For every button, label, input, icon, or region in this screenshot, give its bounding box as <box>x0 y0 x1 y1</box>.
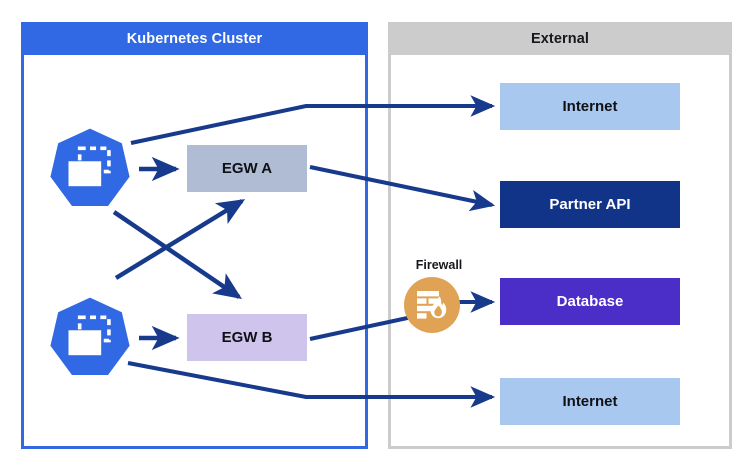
node-internet-bottom: Internet <box>500 378 680 425</box>
kubernetes-pod-icon <box>47 126 133 212</box>
node-label-database: Database <box>557 293 624 310</box>
firewall-label: Firewall <box>399 258 479 272</box>
node-label-egw-a: EGW A <box>222 160 272 177</box>
node-label-internet-top: Internet <box>562 98 617 115</box>
firewall-label-text: Firewall <box>416 258 463 272</box>
node-internet-top: Internet <box>500 83 680 130</box>
firewall-icon-svg <box>404 277 460 333</box>
node-partner-api: Partner API <box>500 181 680 228</box>
node-label-partner-api: Partner API <box>549 196 630 213</box>
node-label-egw-b: EGW B <box>222 329 273 346</box>
panel-title-kubernetes-cluster: Kubernetes Cluster <box>127 31 263 47</box>
panel-header-kubernetes-cluster: Kubernetes Cluster <box>21 22 368 55</box>
panel-title-external: External <box>531 31 589 47</box>
panel-header-external: External <box>388 22 732 55</box>
node-egw-b: EGW B <box>187 314 307 361</box>
node-label-internet-bottom: Internet <box>562 393 617 410</box>
kubernetes-pod-icon <box>47 295 133 381</box>
diagram-canvas: Kubernetes Cluster External EGW A EGW B … <box>0 0 753 471</box>
firewall-icon <box>404 277 460 333</box>
panel-kubernetes-cluster-body <box>21 22 368 449</box>
node-database: Database <box>500 278 680 325</box>
node-egw-a: EGW A <box>187 145 307 192</box>
